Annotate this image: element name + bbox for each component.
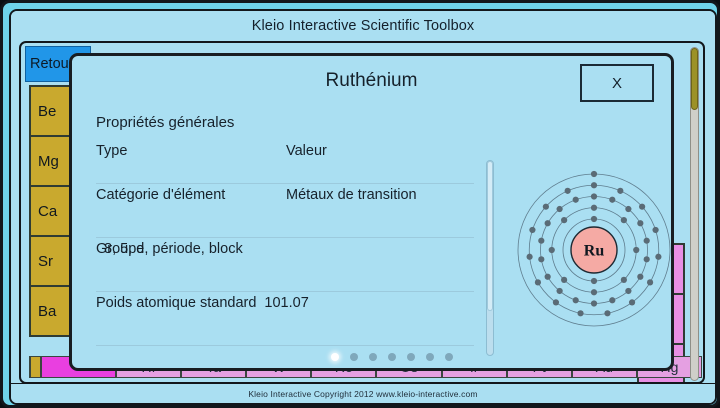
page-title: Kleio Interactive Scientific Toolbox [252,18,475,34]
app-inner-frame: Kleio Interactive Scientific Toolbox Ret… [9,9,717,405]
properties-table: TypeValeurCatégorie d'élémentMétaux de t… [96,140,474,362]
atom-symbol: Ru [584,243,605,260]
property-value: Valeur [286,143,327,159]
table-row: Poids atomique standard101.07 [96,292,474,346]
title-bar: Kleio Interactive Scientific Toolbox [11,11,715,40]
element-symbol: Sr [38,253,53,270]
page-dot[interactable] [407,353,415,361]
element-detail-dialog: Ruthénium X Propriétés générales TypeVal… [69,53,674,371]
property-value: Métaux de transition [286,187,417,203]
property-value: 8, 5, d [104,241,144,257]
dialog-vertical-scrollbar[interactable] [486,160,494,356]
footer-bar: Kleio Interactive Copyright 2012 www.kle… [11,383,715,403]
table-row: Catégorie d'élémentMétaux de transition [96,184,474,238]
property-name: Catégorie d'élément [96,187,286,203]
close-button[interactable]: X [580,64,654,102]
page-dot[interactable] [369,353,377,361]
atom-shell-diagram: Ru [512,168,674,332]
app-window: Kleio Interactive Scientific Toolbox Ret… [0,0,720,408]
element-symbol: Ca [38,203,57,220]
table-row: TypeValeur [96,140,474,184]
property-name: Poids atomique standard [96,295,256,311]
page-dot[interactable] [331,353,339,361]
page-dot[interactable] [388,353,396,361]
property-value: 101.07 [264,295,308,311]
element-symbol: Be [38,103,56,120]
element-symbol: Mg [38,153,59,170]
main-vertical-scrollbar[interactable] [690,47,699,381]
main-scrollbar-thumb[interactable] [691,48,698,110]
page-dot[interactable] [350,353,358,361]
page-indicator[interactable] [72,353,671,361]
copyright-text: Kleio Interactive Copyright 2012 www.kle… [248,389,477,399]
page-dot[interactable] [445,353,453,361]
page-dot[interactable] [426,353,434,361]
section-heading: Propriétés générales [96,114,234,131]
dialog-scrollbar-thumb[interactable] [487,161,493,311]
property-name: Type [96,143,286,159]
table-row: Groupe, période, block8, 5, d [96,238,474,292]
element-symbol: Ba [38,303,56,320]
